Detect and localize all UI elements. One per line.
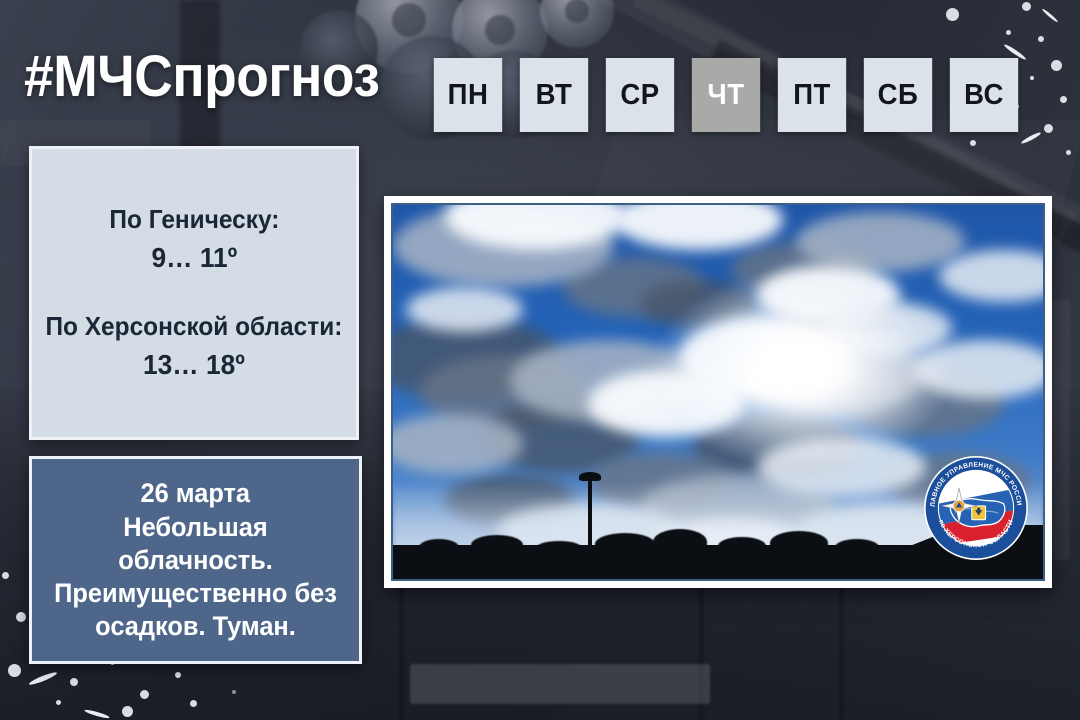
tree-silhouette xyxy=(536,541,582,555)
cloud-shape xyxy=(796,212,965,272)
paint-splatter xyxy=(122,706,133,717)
background-step-plate xyxy=(410,664,710,704)
infographic-canvas: #МЧСпрогноз ПН ВТ СР ЧТ ПТ СБ ВС По Гени… xyxy=(0,0,1080,720)
weather-photo-frame: ГЛАВНОЕ УПРАВЛЕНИЕ МЧС РОССИИ по ХЕРСОНС… xyxy=(384,196,1052,588)
city-label: По Геническу: xyxy=(109,203,279,236)
weekday-chip-sat[interactable]: СБ xyxy=(864,58,932,132)
forecast-description-panel: 26 марта Небольшая облачность. Преимущес… xyxy=(29,456,362,664)
temperature-panel: По Геническу: 9… 11º По Херсонской облас… xyxy=(29,146,359,440)
tree-silhouette xyxy=(653,529,707,555)
tree-silhouette xyxy=(770,531,828,555)
paint-splatter xyxy=(1066,150,1071,155)
paint-splatter xyxy=(1038,36,1044,42)
region-label: По Херсонской области: xyxy=(46,310,343,343)
paint-splatter xyxy=(140,690,149,699)
region-temperature-block: По Херсонской области: 13… 18º xyxy=(36,310,352,383)
weather-photo: ГЛАВНОЕ УПРАВЛЕНИЕ МЧС РОССИИ по ХЕРСОНС… xyxy=(391,203,1045,581)
paint-splatter xyxy=(1044,124,1053,133)
cloud-shape xyxy=(406,287,523,332)
weekday-chip-sun[interactable]: ВС xyxy=(950,58,1018,132)
lamp-head-silhouette xyxy=(579,472,601,481)
paint-splatter xyxy=(232,690,236,694)
weekday-selector: ПН ВТ СР ЧТ ПТ СБ ВС xyxy=(432,58,1020,132)
paint-splatter xyxy=(190,700,197,707)
paint-splatter xyxy=(56,700,61,705)
paint-splatter xyxy=(1060,96,1067,103)
mchs-emblem: ГЛАВНОЕ УПРАВЛЕНИЕ МЧС РОССИИ по ХЕРСОНС… xyxy=(923,455,1029,561)
weekday-chip-fri[interactable]: ПТ xyxy=(778,58,846,132)
paint-splatter xyxy=(16,612,26,622)
paint-splatter xyxy=(970,140,976,146)
forecast-conditions: Небольшая облачность. Преимущественно бе… xyxy=(51,511,340,643)
tree-silhouette xyxy=(471,535,523,555)
weekday-chip-thu[interactable]: ЧТ xyxy=(692,58,760,132)
city-temperature: 9… 11º xyxy=(109,240,279,276)
paint-splatter xyxy=(70,678,78,686)
paint-splatter xyxy=(1022,2,1031,11)
sun-glow xyxy=(653,272,952,466)
weekday-chip-wed[interactable]: СР xyxy=(606,58,674,132)
paint-splatter xyxy=(946,8,959,21)
city-temperature-block: По Геническу: 9… 11º xyxy=(104,203,285,276)
paint-splatter xyxy=(2,572,9,579)
tree-silhouette xyxy=(718,537,766,555)
lamp-post-silhouette xyxy=(588,477,592,555)
paint-splatter xyxy=(1051,60,1062,71)
paint-splatter xyxy=(175,672,181,678)
region-temperature: 13… 18º xyxy=(46,347,343,383)
weekday-chip-mon[interactable]: ПН xyxy=(434,58,502,132)
tree-silhouette xyxy=(835,539,879,555)
tree-silhouette xyxy=(419,539,459,555)
paint-splatter xyxy=(8,664,21,677)
paint-splatter xyxy=(1006,30,1011,35)
weekday-chip-tue[interactable]: ВТ xyxy=(520,58,588,132)
page-title: #МЧСпрогноз xyxy=(24,48,379,106)
paint-splatter xyxy=(1030,76,1034,80)
forecast-date: 26 марта xyxy=(141,477,251,509)
tree-silhouette xyxy=(595,533,655,555)
